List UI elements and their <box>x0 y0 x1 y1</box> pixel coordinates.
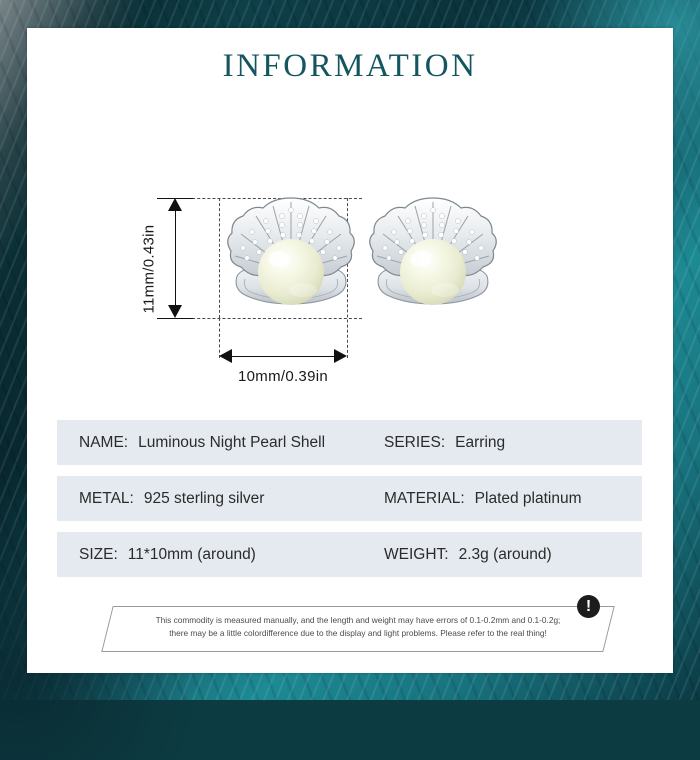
spec-cell-series: SERIES: Earring <box>384 434 505 452</box>
spec-value: 2.3g (around) <box>459 546 552 564</box>
table-row: METAL: 925 sterling silver MATERIAL: Pla… <box>57 476 642 521</box>
dimension-line-vertical <box>175 201 176 315</box>
disclaimer-text: This commodity is measured manually, and… <box>135 614 581 640</box>
spec-value: Earring <box>455 434 505 452</box>
spec-cell-weight: WEIGHT: 2.3g (around) <box>384 546 552 564</box>
spec-value: 925 sterling silver <box>144 490 265 508</box>
width-dimension-label: 10mm/0.39in <box>213 368 353 385</box>
spec-cell-size: SIZE: 11*10mm (around) <box>79 546 384 564</box>
dimension-line-horizontal <box>222 356 344 357</box>
table-row: NAME: Luminous Night Pearl Shell SERIES:… <box>57 420 642 465</box>
spec-key: SERIES: <box>384 434 445 452</box>
spec-cell-metal: METAL: 925 sterling silver <box>79 490 384 508</box>
shell-earring-illustration <box>223 190 359 320</box>
shell-earring-illustration <box>365 190 501 320</box>
spec-key: METAL: <box>79 490 134 508</box>
height-dimension-label: 11mm/0.43in <box>141 206 158 314</box>
arrow-down-icon <box>168 305 182 318</box>
spec-value: 11*10mm (around) <box>128 546 256 564</box>
spec-cell-name: NAME: Luminous Night Pearl Shell <box>79 434 384 452</box>
guide-line-left-upper <box>219 198 220 318</box>
product-measurement-diagram: 11mm/0.43in 10mm/0.39in <box>27 148 673 408</box>
spec-key: NAME: <box>79 434 128 452</box>
information-card: INFORMATION 11mm/0.43in 10mm/0.39in <box>27 28 673 673</box>
disclaimer-banner: This commodity is measured manually, and… <box>107 606 607 654</box>
page-title: INFORMATION <box>27 48 673 85</box>
product-earring-right <box>365 190 501 320</box>
disclaimer-line-2: there may be a little colordifference du… <box>135 627 581 640</box>
spec-key: SIZE: <box>79 546 118 564</box>
product-earring-left <box>223 190 359 320</box>
arrow-left-icon <box>219 349 232 363</box>
table-row: SIZE: 11*10mm (around) WEIGHT: 2.3g (aro… <box>57 532 642 577</box>
alert-exclamation-icon: ! <box>577 595 600 618</box>
spec-key: MATERIAL: <box>384 490 465 508</box>
spec-cell-material: MATERIAL: Plated platinum <box>384 490 582 508</box>
specification-table: NAME: Luminous Night Pearl Shell SERIES:… <box>57 420 642 588</box>
arrow-up-icon <box>168 198 182 211</box>
spec-value: Luminous Night Pearl Shell <box>138 434 325 452</box>
arrow-right-icon <box>334 349 347 363</box>
disclaimer-line-1: This commodity is measured manually, and… <box>135 614 581 627</box>
tick-bottom <box>157 318 193 319</box>
spec-key: WEIGHT: <box>384 546 449 564</box>
spec-value: Plated platinum <box>475 490 582 508</box>
